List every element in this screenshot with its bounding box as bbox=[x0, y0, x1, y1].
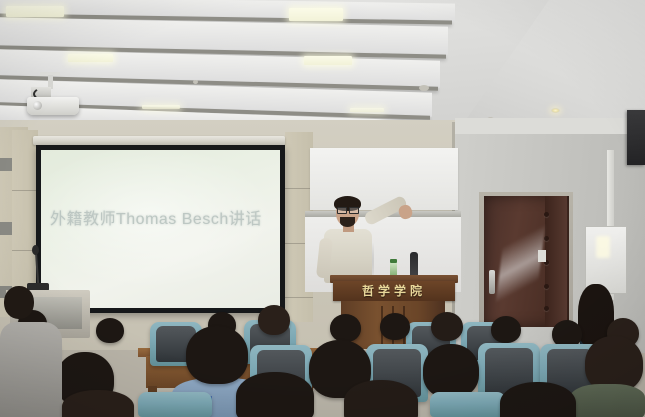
audience-head bbox=[380, 313, 410, 340]
panel-seam bbox=[285, 188, 313, 189]
door-stud bbox=[544, 306, 549, 311]
audience-head bbox=[423, 344, 479, 398]
lecture-hall-photo: 外籍教师Thomas Besch讲话 哲学学院 bbox=[0, 0, 645, 417]
auditorium-seat bbox=[430, 392, 506, 417]
presenter-glasses bbox=[349, 207, 359, 214]
microphone-head bbox=[32, 245, 39, 255]
audience-head bbox=[431, 312, 463, 341]
projection-screen-glare bbox=[41, 150, 280, 308]
ceiling-light-panel bbox=[350, 108, 384, 112]
ceiling-light-panel bbox=[142, 105, 180, 109]
ceiling-light-panel bbox=[68, 54, 113, 62]
ceiling-fitting bbox=[193, 80, 198, 84]
audience-head bbox=[344, 380, 418, 417]
panel-seam bbox=[285, 297, 313, 298]
door-lockplate bbox=[538, 250, 546, 262]
downlight bbox=[551, 108, 560, 113]
audience-head bbox=[258, 305, 290, 335]
door-handle[interactable] bbox=[489, 270, 495, 294]
audience-head bbox=[186, 326, 248, 384]
auditorium-seat bbox=[138, 392, 212, 417]
front-attendee-body bbox=[0, 322, 62, 417]
wall-speaker bbox=[627, 110, 645, 165]
ceiling-fitting bbox=[419, 85, 429, 91]
audience-head bbox=[62, 390, 134, 417]
presenter-glasses bbox=[337, 207, 347, 214]
whiteboard bbox=[310, 148, 458, 210]
slide-title-text: 外籍教师Thomas Besch讲话 bbox=[50, 205, 275, 229]
door-stud bbox=[544, 236, 549, 241]
ceiling-light-panel bbox=[304, 56, 352, 65]
water-bottle-cap bbox=[390, 259, 397, 263]
presenter-beard bbox=[340, 217, 355, 227]
ceiling-light-panel bbox=[289, 8, 343, 21]
podium-sign-text: 哲学学院 bbox=[333, 281, 455, 301]
door-stud bbox=[544, 284, 549, 289]
projector-lens bbox=[33, 101, 42, 110]
panel-seam bbox=[12, 190, 38, 191]
ceiling-light-panel bbox=[6, 6, 64, 17]
door-stud bbox=[544, 212, 549, 217]
audience-shoulders bbox=[570, 384, 645, 417]
audience-head bbox=[96, 318, 124, 343]
right-wall-top-trim bbox=[455, 118, 645, 134]
audience-head bbox=[330, 314, 361, 342]
ceiling-projector bbox=[27, 97, 79, 115]
audience-head bbox=[500, 382, 576, 417]
audience-head bbox=[236, 372, 314, 417]
front-attendee-head bbox=[4, 286, 34, 319]
right-wall-panel-reflection bbox=[596, 236, 610, 258]
projection-screen-roller bbox=[33, 136, 285, 145]
podium-sign: 哲学学院 bbox=[333, 281, 455, 301]
audience-head bbox=[491, 316, 521, 343]
